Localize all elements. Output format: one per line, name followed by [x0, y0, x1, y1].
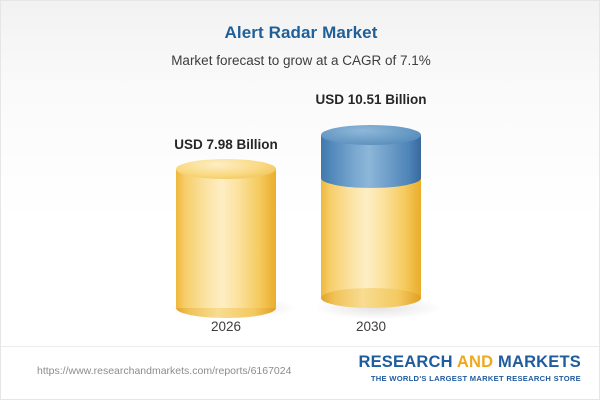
data-label-2030: USD 10.51 Billion — [291, 92, 451, 107]
logo-wordmark: RESEARCH AND MARKETS — [358, 354, 581, 371]
logo-tagline: THE WORLD'S LARGEST MARKET RESEARCH STOR… — [358, 374, 581, 383]
cylinder-top-ellipse-base — [176, 159, 276, 179]
research-and-markets-logo[interactable]: RESEARCH AND MARKETS THE WORLD'S LARGEST… — [358, 354, 581, 383]
cylinder-top-ellipse-growth — [321, 125, 421, 145]
data-label-2026: USD 7.98 Billion — [146, 137, 306, 152]
chart-card: Alert Radar Market Market forecast to gr… — [0, 0, 600, 400]
bar-group-2030: USD 10.51 Billion 2030 — [291, 81, 451, 341]
plot-area: USD 7.98 Billion 2026 USD 10.51 Billion — [1, 81, 600, 341]
chart-title: Alert Radar Market — [1, 23, 600, 43]
cylinder-segment-divider-ellipse — [321, 168, 421, 188]
cylinder-body-base-overlay — [321, 178, 421, 288]
logo-text-and: AND — [457, 353, 493, 371]
chart-subtitle: Market forecast to grow at a CAGR of 7.1… — [1, 53, 600, 68]
source-url[interactable]: https://www.researchandmarkets.com/repor… — [37, 365, 291, 377]
category-label-2026: 2026 — [146, 319, 306, 334]
cylinder-2026[interactable] — [176, 159, 276, 308]
logo-text-markets: MARKETS — [493, 353, 581, 371]
footer-divider — [1, 346, 600, 347]
category-label-2030: 2030 — [291, 319, 451, 334]
logo-text-research: RESEARCH — [358, 353, 456, 371]
cylinder-body-base-overlay — [176, 169, 276, 308]
bar-group-2026: USD 7.98 Billion 2026 — [146, 81, 306, 341]
cylinder-2030[interactable] — [321, 125, 421, 308]
cylinder-bottom-ellipse — [321, 288, 421, 308]
